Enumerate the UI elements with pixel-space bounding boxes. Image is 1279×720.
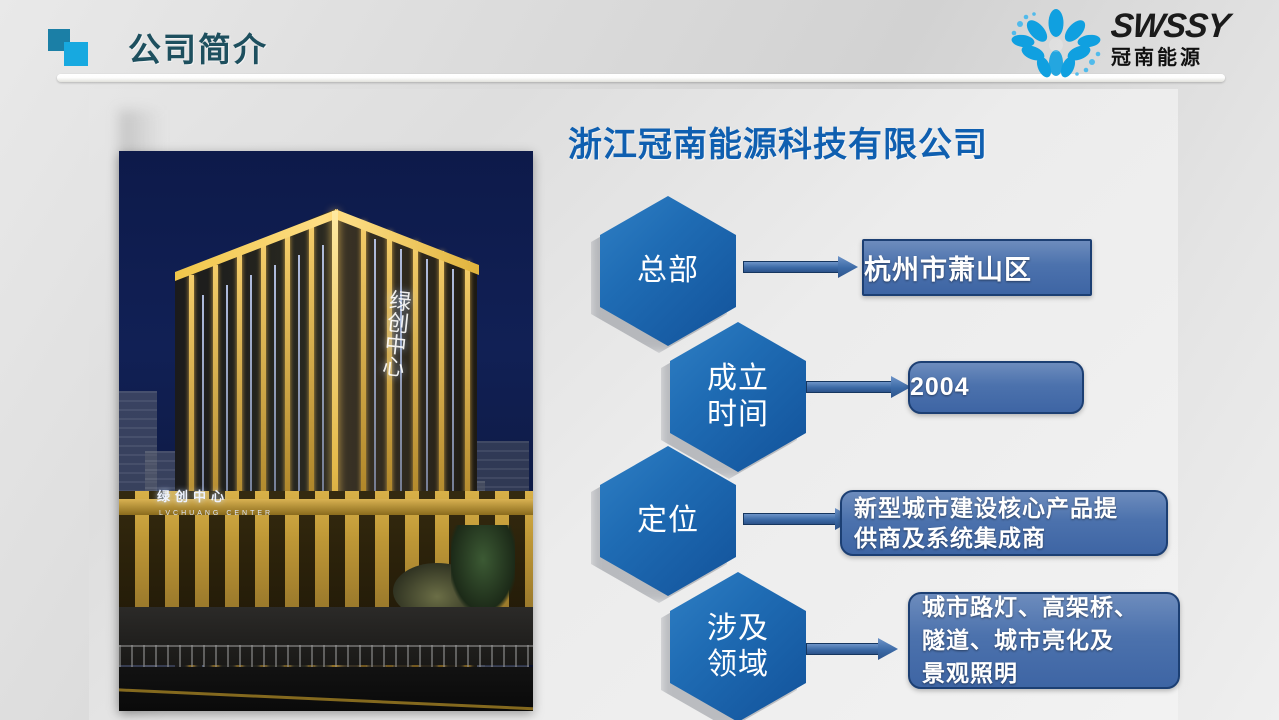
tree (451, 525, 515, 611)
hexagon-text: 定位 (637, 503, 699, 539)
building-photo: 绿创中心 绿创中心 LVCHUANG CENTER (119, 151, 533, 711)
hexagon-text: 成立 时间 (707, 361, 769, 433)
brand-logo: SWSSY 冠南能源 (1007, 2, 1271, 82)
arrow-shaft (806, 643, 881, 655)
hexagon-text: 总部 (637, 253, 699, 289)
arrow-shaft (743, 513, 838, 525)
arrow-right-icon (743, 508, 855, 530)
water-droplet-flower-icon (1007, 7, 1105, 79)
value-text: 城市路灯、高架桥、 隧道、城市亮化及 景观照明 (922, 591, 1178, 690)
value-box-headquarters[interactable]: 杭州市萧山区 (862, 239, 1092, 296)
page-title: 公司简介 (128, 23, 268, 71)
brand-text: SWSSY 冠南能源 (1111, 8, 1269, 69)
slide-root: 公司简介 (0, 0, 1279, 720)
arrow-shaft (806, 381, 894, 393)
hexagon-text: 涉及 领域 (707, 611, 769, 683)
value-box-fields[interactable]: 城市路灯、高架桥、 隧道、城市亮化及 景观照明 (908, 592, 1180, 689)
value-text: 新型城市建设核心产品提 供商及系统集成商 (854, 493, 1166, 553)
slide-header: 公司简介 (0, 0, 1279, 89)
arrow-shaft (743, 261, 841, 273)
arrow-head (838, 256, 858, 278)
brand-subtitle: 冠南能源 (1111, 47, 1269, 69)
header-square-light-icon (64, 42, 88, 66)
entrance-sign-english: LVCHUANG CENTER (159, 510, 273, 517)
value-text: 2004 (910, 373, 1082, 402)
value-text: 杭州市萧山区 (864, 248, 1090, 287)
company-name-title: 浙江冠南能源科技有限公司 (568, 117, 988, 166)
arrow-right-icon (806, 638, 898, 660)
arrow-head (878, 638, 898, 660)
value-box-positioning[interactable]: 新型城市建设核心产品提 供商及系统集成商 (840, 490, 1168, 556)
brand-name: SWSSY (1109, 8, 1271, 44)
arrow-right-icon (743, 256, 858, 278)
value-box-founded[interactable]: 2004 (908, 361, 1084, 414)
arrow-right-icon (806, 376, 911, 398)
entrance-sign-chinese: 绿创中心 (157, 486, 229, 505)
